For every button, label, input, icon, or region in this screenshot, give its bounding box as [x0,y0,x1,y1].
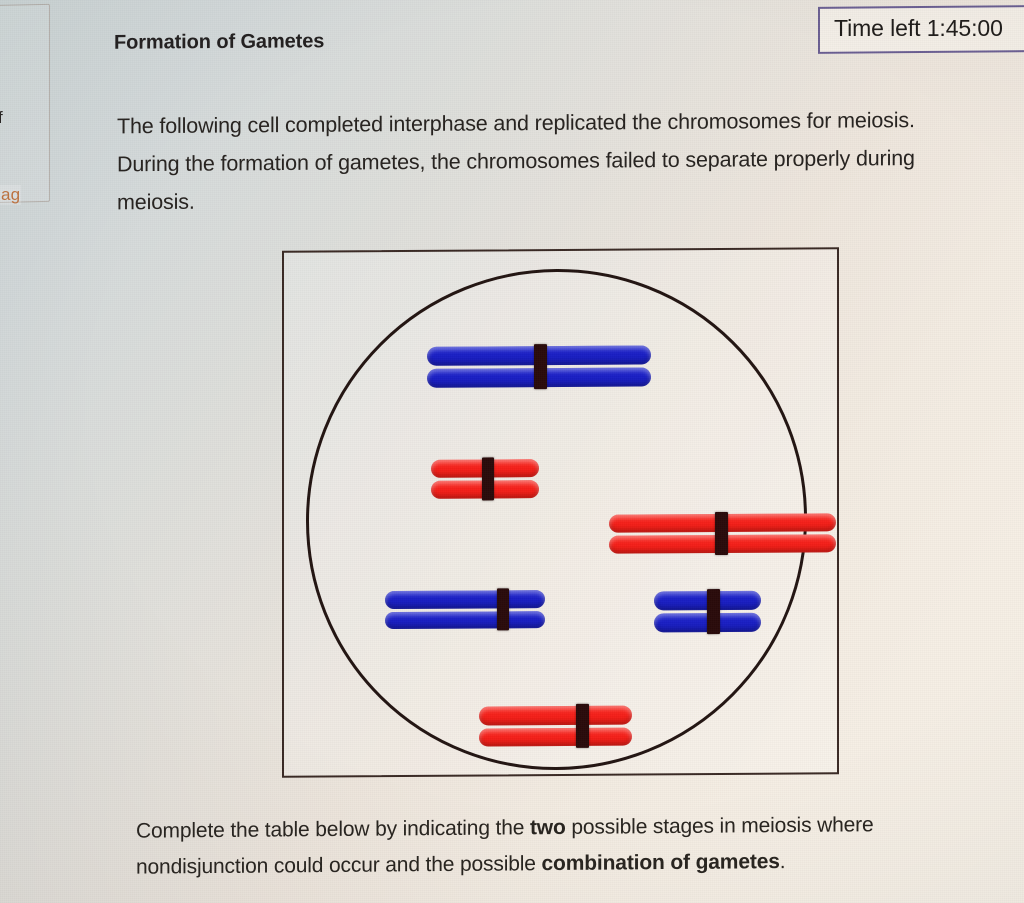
chromosome-red-short-mid-left [431,459,539,499]
instruction-text-run: Complete the table below by indicating t… [136,816,530,842]
time-left-box: Time left 1:45:00 [818,5,1024,54]
instruction-emphasis: combination of gametes [542,850,780,875]
sister-chromatid-top [479,706,632,725]
chromosome-blue-long-upper-left [427,345,651,387]
left-sidebar-panel [0,4,50,204]
question-intro-text: The following cell completed interphase … [117,101,965,222]
instruction-emphasis: two [530,816,566,839]
page-title: Formation of Gametes [114,30,324,54]
centromere [576,704,589,748]
sister-chromatid-bottom [385,611,545,629]
centromere [482,457,494,500]
sidebar-text-fragment: f [0,108,3,128]
centromere [715,512,728,555]
cell-diagram-frame [282,247,839,777]
chromosome-blue-medium-lower-left [385,590,545,629]
chromosome-blue-short-lower-right [654,591,761,633]
question-instruction-text: Complete the table below by indicating t… [136,806,981,885]
centromere [534,344,547,389]
sister-chromatid-top [385,590,545,608]
time-left-label: Time left 1:45:00 [834,15,1018,42]
centromere [707,589,720,634]
chromosome-red-medium-bottom [479,706,632,747]
flag-question-link-fragment[interactable]: ag [0,185,21,205]
instruction-text-run: . [780,850,786,873]
centromere [497,588,509,630]
sister-chromatid-bottom [479,727,632,746]
cell-membrane-circle [306,267,807,771]
chromosome-red-long-mid-right [609,513,836,553]
